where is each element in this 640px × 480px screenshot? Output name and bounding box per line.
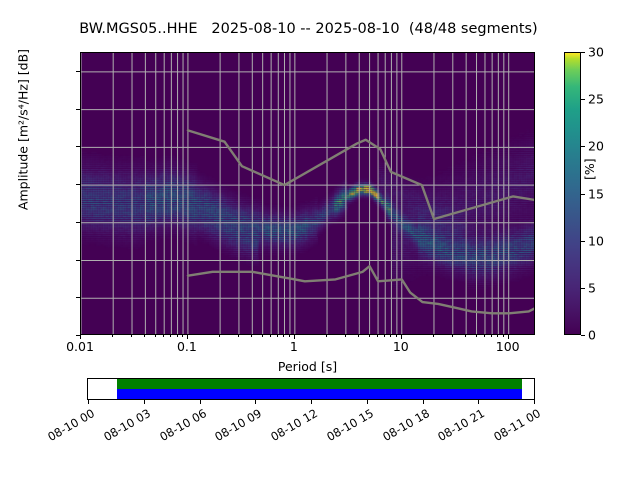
x-tick-minor [163,335,164,337]
noise-model-curves [81,53,535,335]
colorbar-tick-label: 25 [588,92,604,107]
y-tick-mark [76,109,80,110]
x-tick-minor [219,335,220,337]
data-coverage-green[interactable] [117,379,522,389]
x-tick-label: 10 [361,339,441,354]
x-tick-label: 0.1 [147,339,227,354]
timeline-tick-mark [478,400,479,404]
x-tick-minor [277,335,278,337]
colorbar-tick-mark [581,241,585,242]
x-tick-minor [112,335,113,337]
colorbar-tick-label: 5 [588,280,596,295]
x-tick-minor [170,335,171,337]
data-coverage-timeline[interactable] [87,378,535,400]
y-tick-mark [76,297,80,298]
timeline-tick-label: 08-10 21 [428,406,487,448]
timeline-tick-mark [367,400,368,404]
colorbar-tick-mark [581,52,585,53]
timeline-tick-mark [88,400,89,404]
y-axis-label: Amplitude [m²/s⁴/Hz] [dB] [16,0,31,275]
timeline-tick-label: 08-10 12 [261,406,320,448]
x-tick-minor [396,335,397,337]
x-tick-minor [358,335,359,337]
data-coverage-blue[interactable] [117,389,522,399]
x-tick-label: 0.01 [40,339,120,354]
x-tick-minor [262,335,263,337]
x-tick-minor [377,335,378,337]
x-axis-label: Period [s] [80,359,535,374]
page-title: BW.MGS05..HHE 2025-08-10 -- 2025-08-10 (… [0,21,617,37]
timeline-tick-mark [311,400,312,404]
x-tick-minor [369,335,370,337]
x-tick-minor [497,335,498,337]
colorbar-label: [%] [582,120,597,180]
timeline-tick-mark [200,400,201,404]
timeline-tick-mark [534,400,535,404]
x-tick-minor [155,335,156,337]
colorbar-tick-label: 10 [588,233,604,248]
timeline-tick-label: 08-10 09 [205,406,264,448]
y-tick-mark [76,146,80,147]
colorbar-tick-label: 30 [588,45,604,60]
colorbar-tick-mark [581,99,585,100]
timeline-tick-label: 08-10 18 [373,406,432,448]
colorbar-tick-mark [581,335,585,336]
x-tick-minor [503,335,504,337]
y-tick-mark [76,222,80,223]
colorbar[interactable] [564,52,581,335]
ppsd-plot-area[interactable] [80,52,535,335]
x-tick-minor [491,335,492,337]
x-tick-minor [390,335,391,337]
x-tick-minor [326,335,327,337]
y-tick-mark [76,184,80,185]
x-tick-minor [384,335,385,337]
timeline-tick-mark [144,400,145,404]
x-tick-minor [182,335,183,337]
timeline-tick-mark [255,400,256,404]
timeline-tick-mark [423,400,424,404]
timeline-tick-label: 08-10 03 [94,406,153,448]
timeline-tick-label: 08-10 15 [317,406,376,448]
x-tick-minor [289,335,290,337]
x-tick-minor [177,335,178,337]
colorbar-tick-label: 15 [588,186,604,201]
x-tick-minor [433,335,434,337]
x-tick-minor [283,335,284,337]
x-tick-minor [452,335,453,337]
x-tick-minor [345,335,346,337]
colorbar-tick-mark [581,194,585,195]
colorbar-tick-label: 0 [588,328,596,343]
x-tick-minor [465,335,466,337]
x-tick-minor [251,335,252,337]
x-tick-minor [131,335,132,337]
y-tick-mark [76,260,80,261]
colorbar-tick-mark [581,288,585,289]
timeline-tick-label: 08-10 06 [150,406,209,448]
x-tick-minor [270,335,271,337]
y-tick-mark [76,71,80,72]
x-tick-minor [238,335,239,337]
x-tick-minor [144,335,145,337]
timeline-tick-label: 08-10 00 [38,406,97,448]
timeline-tick-label: 08-11 00 [484,406,543,448]
x-tick-minor [476,335,477,337]
x-tick-minor [484,335,485,337]
x-tick-label: 100 [468,339,548,354]
x-tick-label: 1 [254,339,334,354]
